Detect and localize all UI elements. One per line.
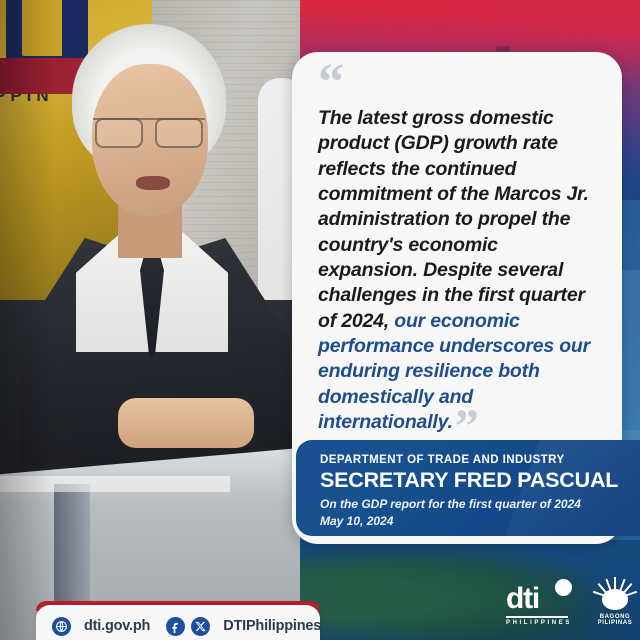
dti-subtext: PHILIPPINES (506, 620, 568, 626)
attribution-department: DEPARTMENT OF TRADE AND INDUSTRY (320, 454, 638, 468)
quote-text: The latest gross domestic product (GDP) … (318, 106, 598, 435)
facebook-icon[interactable] (166, 617, 185, 636)
website-label[interactable]: dti.gov.ph (84, 619, 150, 634)
photo-vignette (0, 0, 300, 640)
attribution-box: DEPARTMENT OF TRADE AND INDUSTRY SECRETA… (296, 440, 640, 536)
logo-group: dti PHILIPPINES BAGONG PILIPINAS (506, 577, 640, 626)
bagong-pilipinas-sun-icon (592, 577, 638, 611)
attribution-context: On the GDP report for the first quarter … (320, 496, 638, 512)
quote-text-plain: The latest gross domestic product (GDP) … (318, 107, 589, 332)
bagong-pilipinas-subtext: BAGONG PILIPINAS (584, 614, 640, 626)
social-handle-label[interactable]: DTIPhilippines (223, 619, 321, 634)
social-bar: dti.gov.ph DTIPhilippines (36, 605, 320, 640)
bagong-pilipinas-logo: BAGONG PILIPINAS (584, 577, 640, 626)
attribution-name: SECRETARY FRED PASCUAL (320, 469, 638, 493)
attribution-date: May 10, 2024 (320, 513, 638, 529)
globe-icon[interactable] (52, 617, 71, 636)
speaker-photo: PPIN (0, 0, 300, 640)
dti-seal-icon (555, 579, 572, 596)
infographic-canvas: PPIN “ The latest gross domestic product… (0, 0, 640, 640)
open-quote-icon: “ (318, 70, 598, 100)
x-twitter-icon[interactable] (191, 617, 210, 636)
social-bar-wrapper: dti.gov.ph DTIPhilippines (36, 601, 320, 640)
dti-rule-divider (506, 616, 568, 618)
dti-logo: dti PHILIPPINES (506, 584, 568, 626)
